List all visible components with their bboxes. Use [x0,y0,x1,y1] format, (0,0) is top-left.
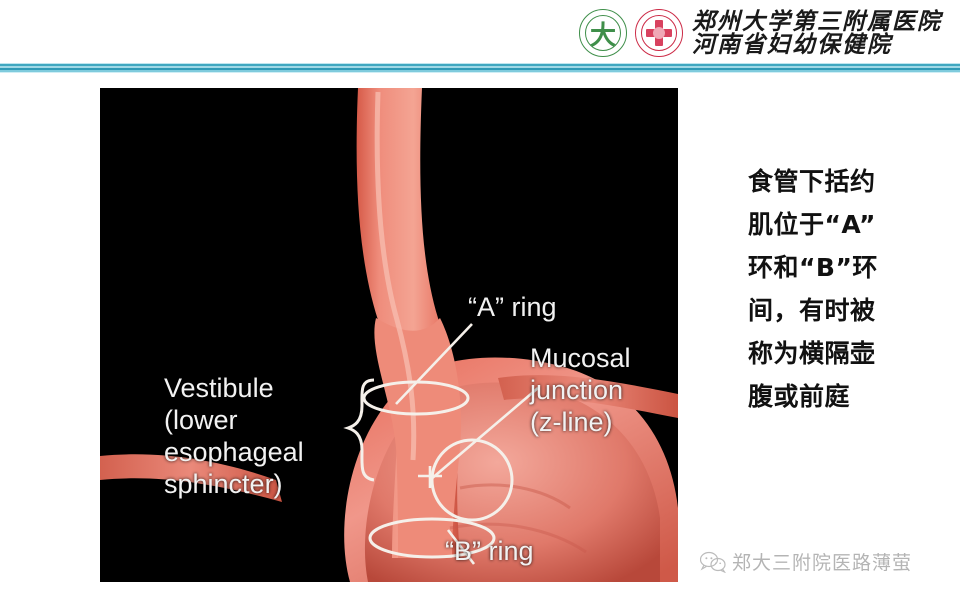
hospital-branding: 大 郑州大学第三附属医院 河南省妇幼保健院 [578,4,942,62]
emblem-glyph: 大 [578,8,628,58]
hospital-name-block: 郑州大学第三附属医院 河南省妇幼保健院 [692,10,942,57]
divider-rule [0,72,960,73]
wechat-watermark: 郑大三附院医路薄萤 [700,548,912,575]
caption-line: 腹或前庭 [748,375,953,418]
wechat-icon [700,551,726,573]
caption-line: 肌位于“A” [748,203,953,246]
hospital-emblem-icon [634,8,684,58]
caption-line: 环和“B”环 [748,246,953,289]
emblem-center-dot [653,27,665,39]
page-header: 大 郑州大学第三附属医院 河南省妇幼保健院 [0,0,960,63]
esophagus-anatomy-illustration: “A” ring Mucosal junction (z-line) Vesti… [100,88,678,582]
hospital-name-line-2: 河南省妇幼保健院 [692,33,942,56]
label-vestibule: Vestibule (lower esophageal sphincter) [164,373,304,500]
label-a-ring: “A” ring [468,292,557,324]
label-mucosal-junction: Mucosal junction (z-line) [530,343,631,439]
header-divider [0,62,960,74]
watermark-text: 郑大三附院医路薄萤 [732,548,912,575]
label-b-ring: “B” ring [445,536,534,568]
hospital-name-line-1: 郑州大学第三附属医院 [692,10,942,33]
anatomy-diagram-svg [100,88,678,582]
caption-line: 间，有时被 [748,289,953,332]
caption-text-column: 食管下括约 肌位于“A” 环和“B”环 间，有时被 称为横隔壶 腹或前庭 [748,160,953,418]
zhengzhou-university-emblem-icon: 大 [578,8,628,58]
caption-line: 称为横隔壶 [748,332,953,375]
caption-line: 食管下括约 [748,160,953,203]
